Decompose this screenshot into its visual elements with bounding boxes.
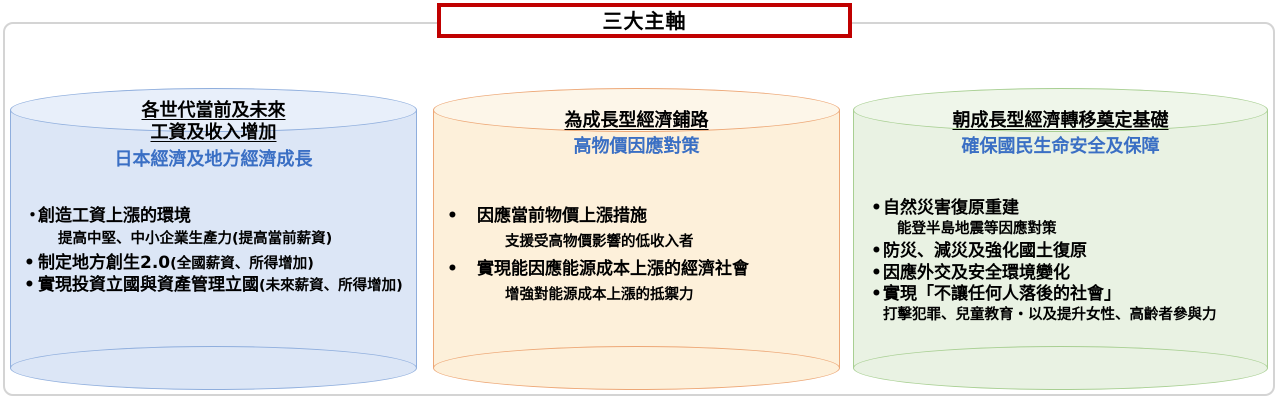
pillar-subtitle: 高物價因應對策 bbox=[433, 136, 840, 158]
list-item: • 因應當前物價上漲措施 bbox=[447, 206, 832, 227]
list-item-note: (全國薪資、所得增加) bbox=[170, 256, 314, 272]
pillar-heading: 各世代當前及未來 工資及收入增加 日本經濟及地方經濟成長 bbox=[10, 100, 417, 171]
bullet-icon: • bbox=[871, 263, 882, 284]
list-item-detail: 提高中堅、中小企業生產力(提高當前薪資) bbox=[24, 230, 409, 248]
pillar-content: 為成長型經濟鋪路 高物價因應對策 • 因應當前物價上漲措施 支援受高物價影響的低… bbox=[433, 88, 840, 390]
bullet-icon: • bbox=[24, 253, 35, 274]
pillar-item-list: • 因應當前物價上漲措施 支援受高物價影響的低收入者 • 實現能因應能源成本上漲… bbox=[433, 206, 840, 312]
list-item-text: 自然災害復原重建 bbox=[883, 198, 1262, 219]
bullet-icon: • bbox=[871, 198, 882, 219]
slide-root: 三大主軸 各世代當前及未來 工資及收入增加 日本經濟及地方經濟成長 ・ 創造工資… bbox=[0, 0, 1283, 407]
list-item-detail: 支援受高物價影響的低收入者 bbox=[447, 233, 832, 251]
list-item: • 實現投資立國與資產管理立國(未來薪資、所得增加) bbox=[24, 275, 409, 296]
list-item-text: 制定地方創生2.0 bbox=[38, 253, 170, 273]
list-item-text: 防災、減災及強化國土復原 bbox=[883, 241, 1262, 262]
pillar-content: 各世代當前及未來 工資及收入增加 日本經濟及地方經濟成長 ・ 創造工資上漲的環境… bbox=[10, 88, 417, 390]
list-item-text: 創造工資上漲的環境 bbox=[38, 206, 409, 227]
page-title: 三大主軸 bbox=[603, 11, 687, 31]
list-item: • 制定地方創生2.0(全國薪資、所得增加) bbox=[24, 253, 409, 274]
pillar-heading: 朝成長型經濟轉移奠定基礎 確保國民生命安全及保障 bbox=[853, 110, 1268, 159]
list-item-detail: 增強對能源成本上漲的抵禦力 bbox=[447, 286, 832, 304]
bullet-icon: • bbox=[871, 284, 882, 305]
bullet-icon: • bbox=[24, 275, 35, 296]
list-item: • 自然災害復原重建 bbox=[871, 198, 1262, 219]
pillar-cylinder-safety-foundation: 朝成長型經濟轉移奠定基礎 確保國民生命安全及保障 • 自然災害復原重建 能登半島… bbox=[853, 88, 1268, 390]
pillar-subtitle: 日本經濟及地方經濟成長 bbox=[10, 149, 417, 171]
bullet-icon: • bbox=[447, 259, 458, 280]
main-title-box: 三大主軸 bbox=[437, 3, 852, 38]
list-item-note: (未來薪資、所得增加) bbox=[259, 278, 403, 294]
pillar-heading: 為成長型經濟鋪路 高物價因應對策 bbox=[433, 110, 840, 159]
list-item-text: 實現能因應能源成本上漲的經濟社會 bbox=[477, 259, 832, 280]
list-item-text: 實現投資立國與資產管理立國 bbox=[38, 275, 259, 295]
bullet-icon: • bbox=[871, 241, 882, 262]
list-item: ・ 創造工資上漲的環境 bbox=[24, 206, 409, 227]
pillar-cylinder-growth-economy-path: 為成長型經濟鋪路 高物價因應對策 • 因應當前物價上漲措施 支援受高物價影響的低… bbox=[433, 88, 840, 390]
pillar-heading-line-1: 各世代當前及未來 bbox=[10, 100, 417, 122]
bullet-icon: ・ bbox=[24, 206, 41, 227]
pillar-heading-line-2: 工資及收入增加 bbox=[10, 122, 417, 144]
pillar-content: 朝成長型經濟轉移奠定基礎 確保國民生命安全及保障 • 自然災害復原重建 能登半島… bbox=[853, 88, 1268, 390]
pillar-heading-line-1: 朝成長型經濟轉移奠定基礎 bbox=[853, 110, 1268, 132]
pillar-item-list: • 自然災害復原重建 能登半島地震等因應對策 • 防災、減災及強化國土復原 • … bbox=[853, 198, 1268, 327]
pillar-item-list: ・ 創造工資上漲的環境 提高中堅、中小企業生產力(提高當前薪資) • 制定地方創… bbox=[10, 206, 417, 296]
list-item-detail: 能登半島地震等因應對策 bbox=[871, 220, 1262, 238]
list-item-detail: 打擊犯罪、兒童教育・以及提升女性、高齡者參與力 bbox=[871, 306, 1262, 324]
list-item: • 防災、減災及強化國土復原 bbox=[871, 241, 1262, 262]
pillar-cylinder-wages-growth: 各世代當前及未來 工資及收入增加 日本經濟及地方經濟成長 ・ 創造工資上漲的環境… bbox=[10, 88, 417, 390]
bullet-icon: • bbox=[447, 206, 458, 227]
list-item: • 實現「不讓任何人落後的社會」 bbox=[871, 284, 1262, 305]
list-item-text: 實現「不讓任何人落後的社會」 bbox=[883, 284, 1262, 305]
list-item-text: 因應當前物價上漲措施 bbox=[477, 206, 832, 227]
pillar-heading-line-1: 為成長型經濟鋪路 bbox=[433, 110, 840, 132]
list-item: • 實現能因應能源成本上漲的經濟社會 bbox=[447, 259, 832, 280]
list-item: • 因應外交及安全環境變化 bbox=[871, 263, 1262, 284]
list-item-text: 因應外交及安全環境變化 bbox=[883, 263, 1262, 284]
pillar-subtitle: 確保國民生命安全及保障 bbox=[853, 136, 1268, 158]
